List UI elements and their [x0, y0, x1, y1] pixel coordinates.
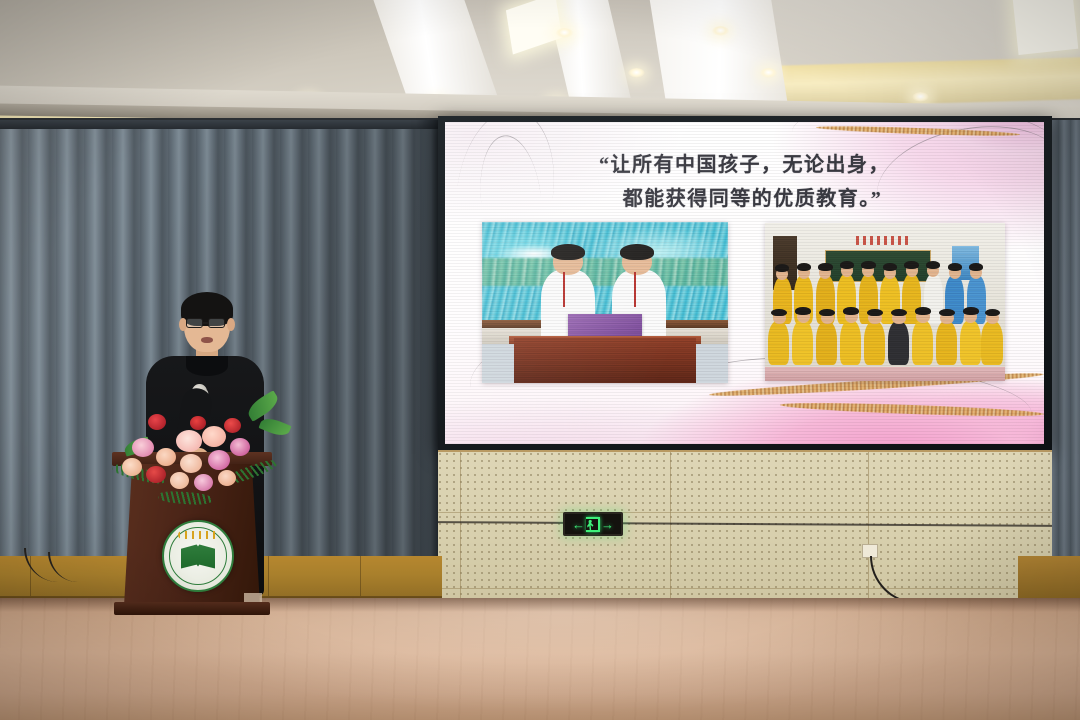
student-hair	[795, 307, 811, 315]
teacher-hair	[926, 261, 940, 269]
student	[981, 321, 1003, 365]
student-hair	[819, 309, 835, 317]
presenter-a-lanyard	[563, 272, 565, 307]
student-hair	[939, 309, 955, 317]
wood-wainscot-right	[1018, 556, 1080, 600]
student-hair	[948, 263, 962, 271]
arrow-left-icon: ←	[572, 518, 585, 531]
student	[960, 320, 982, 366]
presentation-slide: “让所有中国孩子，无论出身， 都能获得同等的优质教育。”	[445, 122, 1044, 444]
presenter-a-hair	[551, 244, 585, 260]
downlight-6	[712, 26, 729, 36]
student-hair	[843, 307, 859, 315]
slide-quote-line-2: 都能获得同等的优质教育。”	[523, 182, 966, 216]
downlight-9	[912, 92, 929, 102]
downlight-5	[556, 28, 573, 38]
student-hair	[963, 307, 979, 315]
student	[816, 321, 838, 365]
student-hair	[969, 263, 983, 271]
red-carnation	[190, 416, 206, 430]
peach-rose	[156, 448, 176, 466]
speaker-mouth	[201, 337, 213, 343]
student-dark-shirt	[888, 321, 910, 365]
student-hair	[915, 307, 931, 315]
running-man-figure	[587, 520, 594, 531]
peach-rose	[218, 470, 236, 486]
emblem-book-icon	[181, 544, 215, 568]
student-hair	[904, 261, 918, 269]
downlight-7	[760, 68, 777, 78]
student-hair	[861, 261, 875, 269]
glasses-bridge	[203, 322, 209, 324]
mural-green-band	[482, 258, 728, 285]
school-emblem	[162, 520, 234, 592]
slide-quote-line-1: “让所有中国孩子，无论出身，	[523, 148, 966, 182]
magenta-orchid	[230, 438, 250, 456]
student-hair	[818, 263, 832, 271]
classroom-banner	[856, 236, 909, 245]
presenter-b-hair	[620, 244, 654, 260]
floral-arrangement	[118, 396, 298, 516]
fern-leaf	[158, 490, 213, 506]
student-hair	[797, 263, 811, 271]
red-carnation	[224, 418, 241, 433]
exit-sign-face: ← →	[565, 514, 621, 534]
auditorium-scene: “让所有中国孩子，无论出身， 都能获得同等的优质教育。”	[0, 0, 1080, 720]
peach-rose	[122, 458, 142, 476]
panel-seam	[670, 452, 671, 600]
green-leaf	[258, 415, 291, 439]
student	[864, 321, 886, 365]
ceiling	[0, 0, 1080, 122]
panel-seam	[460, 452, 461, 600]
curtain-rail	[0, 120, 442, 129]
classroom-floor	[765, 367, 1005, 381]
student-hair	[840, 261, 854, 269]
magenta-orchid	[132, 438, 154, 457]
pink-lily	[202, 426, 226, 447]
peach-rose	[180, 454, 202, 473]
panel-seam	[438, 512, 1052, 513]
podium-base	[114, 602, 270, 615]
glasses-lens-right	[208, 318, 225, 328]
student	[792, 320, 814, 366]
led-screen[interactable]: “让所有中国孩子，无论出身， 都能获得同等的优质教育。”	[445, 122, 1044, 444]
magenta-orchid	[194, 474, 213, 491]
speaker-ear-right	[227, 318, 235, 331]
emergency-exit-sign: ← →	[563, 512, 623, 536]
podium-desk	[514, 338, 696, 383]
student	[768, 321, 790, 365]
peach-rose	[170, 472, 189, 489]
student	[936, 321, 958, 365]
presenter-b-lanyard	[634, 272, 636, 307]
mural-backdrop	[482, 222, 728, 323]
panel-seam	[868, 452, 869, 600]
running-man-exit-icon	[586, 517, 600, 532]
emblem-top-text	[178, 531, 218, 539]
photo-two-presenters	[482, 222, 728, 383]
magenta-orchid	[208, 450, 230, 470]
student-hair	[883, 263, 897, 271]
speaker-collar	[186, 356, 228, 376]
glasses-lens-left	[186, 318, 203, 328]
pink-lily	[176, 430, 202, 452]
student	[912, 320, 934, 366]
photo-class-group	[765, 223, 1005, 381]
red-carnation	[146, 466, 166, 483]
slide-quote: “让所有中国孩子，无论出身， 都能获得同等的优质教育。”	[523, 148, 966, 217]
student-hair	[867, 309, 883, 317]
panel-light-right	[1012, 0, 1079, 55]
student-hair	[891, 309, 907, 317]
arrow-right-icon: →	[601, 518, 614, 531]
led-screen-bezel: “让所有中国孩子，无论出身， 都能获得同等的优质教育。”	[438, 116, 1052, 450]
downlight-8	[628, 68, 645, 78]
student	[840, 320, 862, 366]
red-carnation	[148, 414, 166, 430]
